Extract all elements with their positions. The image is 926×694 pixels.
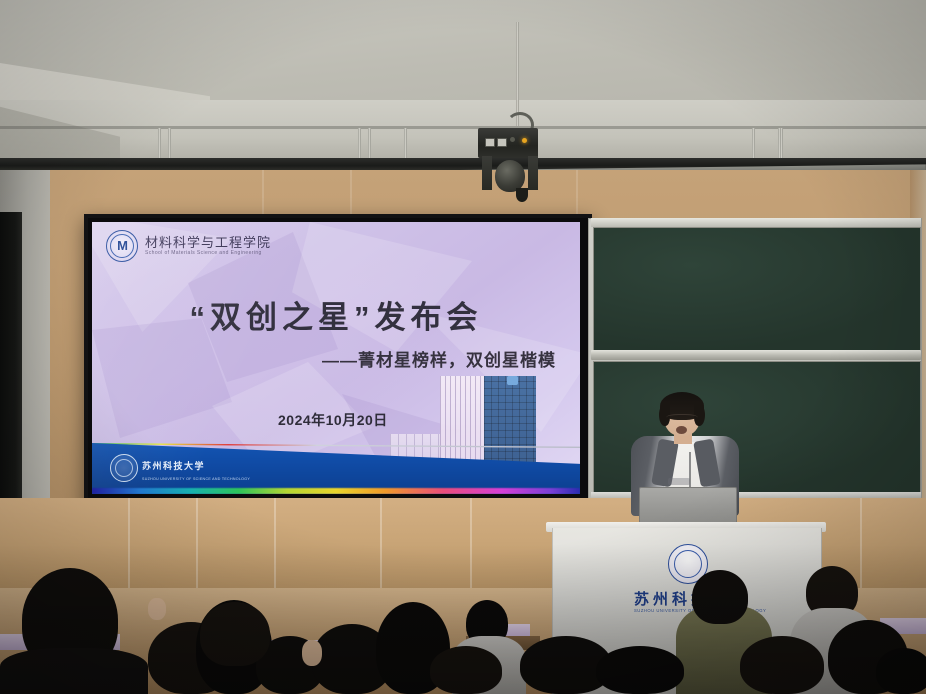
status-led-icon <box>522 138 527 143</box>
presentation-slide: M 材料科学与工程学院 School of Materials Science … <box>92 222 580 494</box>
lecture-hall-scene: M 材料科学与工程学院 School of Materials Science … <box>0 0 926 694</box>
ethernet-port-icon <box>485 138 495 147</box>
slide-date: 2024年10月20日 <box>278 410 388 430</box>
cabinet-seam <box>470 498 472 602</box>
slide-subtitle: ——菁材星榜样，双创星楷模 <box>322 346 556 371</box>
school-crest-icon: M <box>106 230 138 262</box>
blackboard-rail-top <box>591 218 921 227</box>
projection-display[interactable]: M 材料科学与工程学院 School of Materials Science … <box>84 214 592 510</box>
blackboard-rail-middle <box>591 350 921 360</box>
blackboard-panel-upper[interactable] <box>593 227 921 353</box>
ptz-camera-body <box>478 128 538 158</box>
slide-header-text: 材料科学与工程学院 School of Materials Science an… <box>145 236 271 257</box>
cabinet-seam <box>380 498 382 602</box>
audience-hand <box>302 640 322 666</box>
school-name-en: School of Materials Science and Engineer… <box>145 250 271 256</box>
crest-letter: M <box>117 239 127 252</box>
audience-body <box>0 648 148 694</box>
audience-head <box>200 602 270 666</box>
ceiling-soffit <box>0 100 926 162</box>
ethernet-port-icon <box>497 138 507 147</box>
audience-head <box>740 636 824 694</box>
audience-head <box>692 570 748 624</box>
camera-cable <box>516 22 519 126</box>
camera-knob-icon <box>510 137 515 142</box>
rainbow-accent-strip <box>92 488 580 494</box>
audience-head <box>430 646 502 694</box>
cabinet-seam <box>860 498 862 602</box>
ptz-yoke-right <box>528 156 538 190</box>
audience-head <box>596 646 684 694</box>
ptz-yoke-left <box>482 156 492 190</box>
ceiling-seam <box>0 126 926 129</box>
cabinet-seam <box>128 498 130 602</box>
building-logo-icon <box>507 376 518 385</box>
presenter-mouth <box>676 426 687 434</box>
camera-lens-hood <box>516 188 528 202</box>
audience-hand <box>148 598 166 620</box>
university-name-cn: 苏州科技大学 <box>142 459 205 472</box>
cabinet-seam <box>196 498 198 602</box>
cabinet-seam <box>274 498 276 602</box>
slide-header: M 材料科学与工程学院 School of Materials Science … <box>106 230 271 262</box>
presenter-shirt-print <box>668 478 690 485</box>
school-name-cn: 材料科学与工程学院 <box>145 236 271 251</box>
slide-title: “双创之星”发布会 <box>92 292 580 337</box>
audience-head <box>876 648 926 694</box>
university-crest-icon <box>110 454 138 482</box>
university-name-en: SUZHOU UNIVERSITY OF SCIENCE AND TECHNOL… <box>142 477 250 482</box>
glasses-icon <box>666 414 698 423</box>
